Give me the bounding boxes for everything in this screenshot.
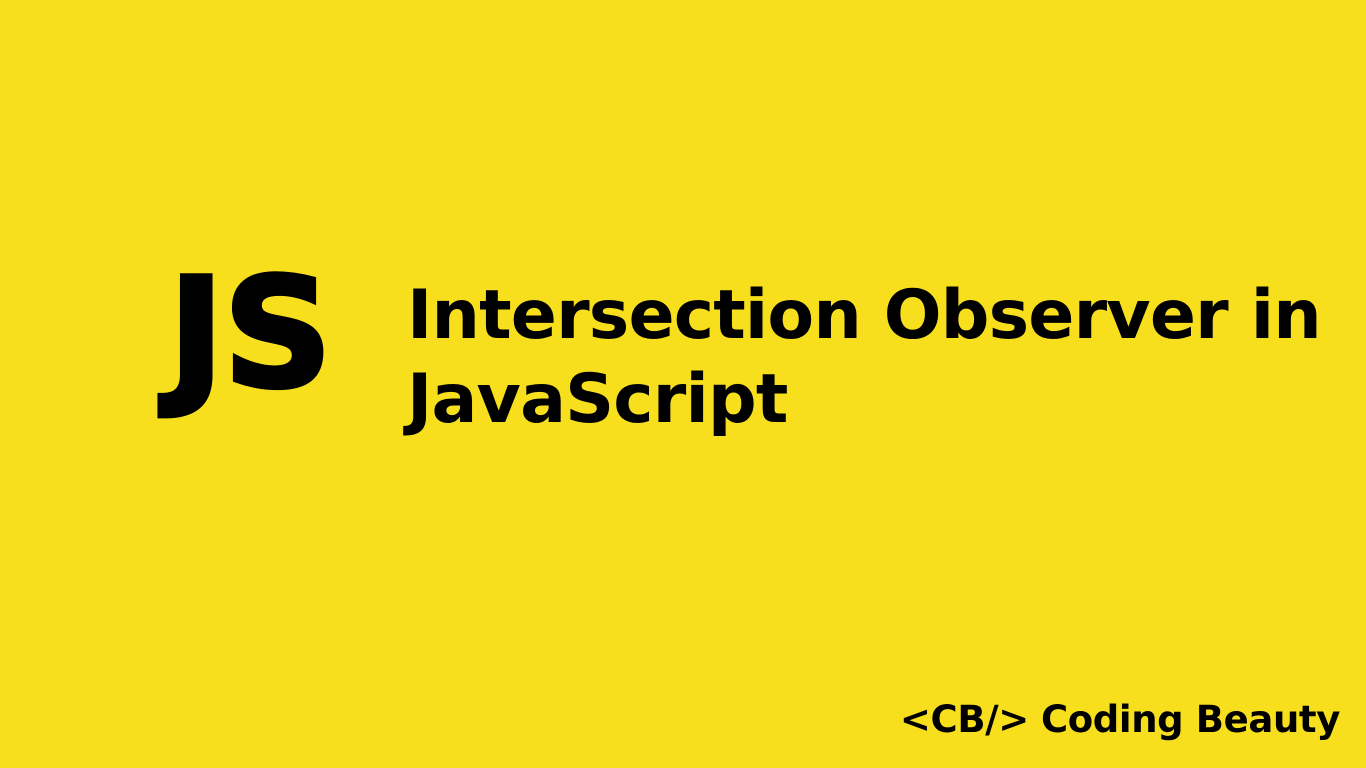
page-title: Intersection Observer in JavaScript: [407, 274, 1321, 442]
hero-section: JS Intersection Observer in JavaScript: [168, 262, 1321, 442]
code-brackets-icon: <CB/>: [900, 698, 1029, 741]
javascript-logo: JS: [168, 264, 331, 404]
brand-lockup: <CB/> Coding Beauty: [900, 698, 1340, 741]
slide-canvas: JS Intersection Observer in JavaScript <…: [0, 0, 1366, 768]
brand-name-label: Coding Beauty: [1041, 698, 1340, 741]
page-title-line-1: Intersection Observer in: [407, 274, 1321, 358]
page-title-line-2: JavaScript: [407, 358, 1321, 442]
